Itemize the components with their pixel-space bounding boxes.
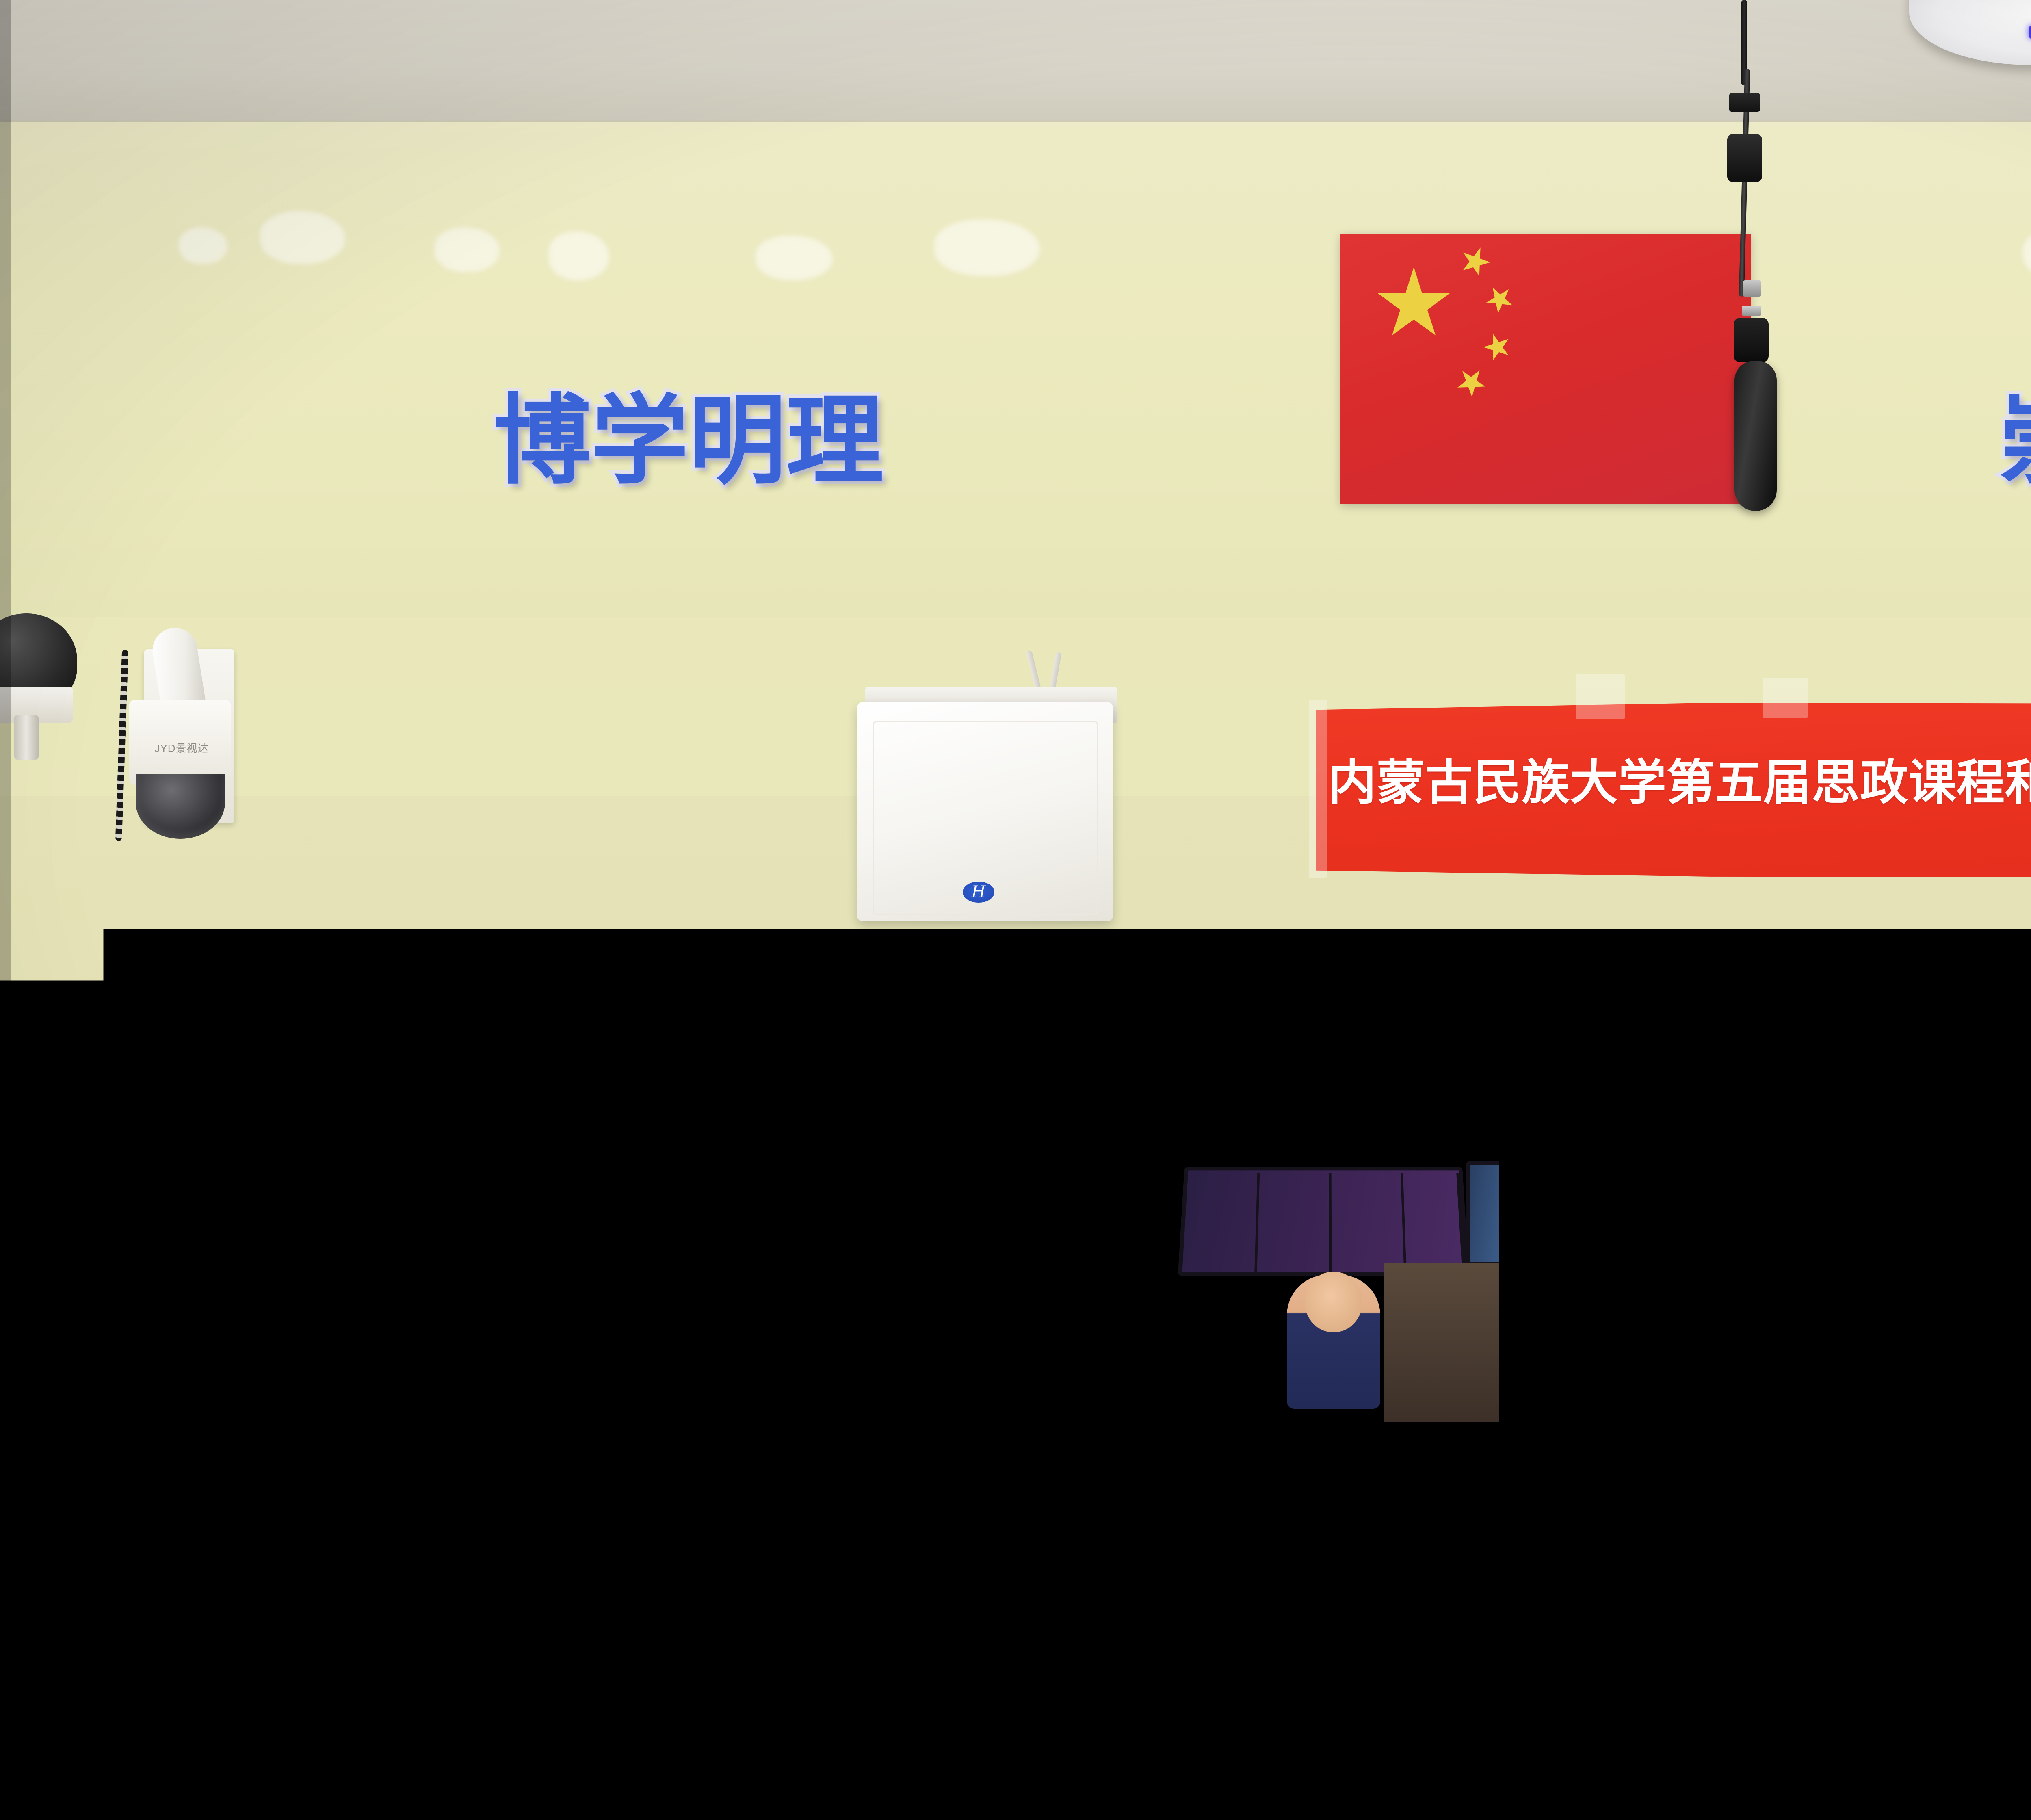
wall-patch: [435, 227, 500, 272]
glasses-lens-right: [705, 1345, 763, 1383]
eyeglasses-icon: [628, 1345, 765, 1384]
ceiling: [0, 0, 2031, 122]
slogan-left-text: 博学明理: [494, 392, 883, 490]
flag-star-small: [1480, 280, 1519, 319]
accent-bar-dark: [941, 1104, 1059, 1133]
china-flag: [1340, 234, 1751, 504]
photo-sauce-cup: [1424, 1542, 1463, 1575]
slide-accent-bars: [941, 1012, 1063, 1142]
photo-menu-panel: [1257, 1173, 1332, 1276]
photo-menu-boards: [1178, 1167, 1469, 1276]
indicator-led: [1095, 1756, 1103, 1764]
teacher-sleeve: [527, 1597, 649, 1820]
flag-star-small: [1480, 329, 1515, 364]
display-brand-label: 海信HiVision: [1539, 1714, 1649, 1729]
source-button[interactable]: [1004, 1753, 1018, 1767]
glasses-lens-left: [630, 1345, 688, 1383]
photo-menu-panel: [1403, 1173, 1465, 1276]
photo-menu-panel: [1332, 1173, 1407, 1276]
microphone-clip: [1727, 134, 1762, 182]
slide-photo: [1129, 1142, 1499, 1621]
microphone-yoke: [1734, 318, 1769, 362]
teacher-nose: [682, 1385, 702, 1410]
banner-tape: [1309, 700, 1327, 878]
flag-star-small: [1456, 243, 1495, 281]
typec-port[interactable]: [1465, 1755, 1491, 1766]
presentation-slide: 导入故事：助力农户走出困境: [929, 988, 2031, 1689]
glasses-bridge: [688, 1359, 707, 1364]
wall-patch: [548, 232, 609, 280]
photo-green-sign: [1206, 1562, 1287, 1587]
ir-receiver-icon: [1112, 1756, 1120, 1764]
volume-down-button[interactable]: [1027, 1753, 1041, 1767]
photo-menu-panel: [1182, 1173, 1260, 1276]
speaker-brand-logo-icon: H: [963, 882, 994, 903]
back-button[interactable]: [1072, 1753, 1086, 1767]
slide-body-text: 2020年，湖南平江经历了疫情和两场大洪水，成了名副其实的“灾年plus”，无数…: [1587, 1159, 2031, 1482]
classroom-scene: 博学明理 崇德至善 JYD景视达 H 内蒙古民族大学第五届思政课程和课程思政教学…: [0, 0, 2031, 1820]
wall-patch: [934, 219, 1040, 276]
footer-segment: [1407, 1674, 1593, 1689]
accent-bar-mid: [941, 1050, 1061, 1078]
slide-footer-bar: [929, 1674, 2031, 1689]
wall-patch: [260, 211, 345, 264]
banner-subtitle: ——文科组: [1328, 806, 2031, 858]
banner-tape: [1763, 678, 1808, 718]
accent-bar-light: [941, 1012, 1047, 1041]
photo-sauce-cup: [1292, 1544, 1329, 1573]
slogan-right-text: 崇德至善: [1999, 392, 2031, 490]
photo-sauce-cup: [1377, 1548, 1412, 1575]
photo-ceiling: [1129, 1142, 1499, 1165]
photo-shelf-right: [1384, 1263, 1499, 1422]
frame-edge: [0, 0, 11, 1820]
status-led: [1129, 1757, 1135, 1763]
microphone-ring: [1743, 280, 1761, 297]
volume-up-button[interactable]: [1050, 1753, 1063, 1767]
footer-segment: [1221, 1674, 1407, 1689]
footer-segment: [1593, 1674, 1858, 1689]
slide-title: 导入故事：助力农户走出困境: [1080, 1032, 1693, 1098]
photo-shop-owner-head: [1305, 1272, 1362, 1332]
photo-fryer-basket: [1179, 1455, 1329, 1549]
display-port-row[interactable]: [1385, 1752, 1645, 1769]
banner-title: 内蒙古民族大学第五届思政课程和课程思政教学设计比赛: [1328, 743, 2031, 813]
camera-brand-label: JYD景视达: [143, 740, 220, 755]
flag-star-small: [1451, 362, 1492, 403]
microphone-ring: [1742, 305, 1761, 316]
usb-port[interactable]: [1385, 1755, 1411, 1766]
wall-slogan-right: 崇德至善: [1999, 392, 2031, 490]
wall-patch: [179, 227, 227, 264]
hdmi-port[interactable]: [1425, 1755, 1451, 1766]
security-camera-arm: [14, 715, 39, 760]
photo-dispenser: [1157, 1316, 1206, 1393]
av-port[interactable]: [1505, 1755, 1531, 1766]
wall-patch: [756, 236, 833, 280]
interactive-display-screen[interactable]: 导入故事：助力农户走出困境: [929, 988, 2031, 1689]
footer-segment: [1858, 1674, 2031, 1689]
photo-menu-board-right: [1466, 1161, 1499, 1266]
banner-tape: [1576, 674, 1625, 719]
flag-star-large: [1376, 267, 1451, 342]
display-bottom-bezel: [905, 1689, 2031, 1751]
jade-bangle: [886, 1701, 943, 1761]
chalk-box-label: 无尘粉笔 白色 环保健康 书写流畅 不伤手 易擦拭 色泽 鲜明 书写顺滑: [41, 1783, 114, 1815]
microphone-clip: [1729, 93, 1760, 112]
slide-divider: [1523, 1240, 1529, 1646]
slide-highlight-text: 追求更好的生活是每个人生而拥有的权利: [1587, 1513, 2031, 1605]
photo-pot-knob: [1414, 1427, 1430, 1439]
wifi-led-indicator: [2029, 25, 2031, 39]
microphone-body: [1734, 361, 1777, 511]
wall-slogan-left: 博学明理: [494, 392, 883, 490]
presenter-pointer-tip: [816, 1730, 842, 1753]
teacher-mouth: [674, 1417, 720, 1442]
teacher-figure: [479, 1255, 999, 1820]
display-control-panel[interactable]: [946, 1750, 1349, 1770]
photo-cup-stack: [1258, 1312, 1280, 1357]
photo-side-screen: [1132, 1198, 1185, 1257]
